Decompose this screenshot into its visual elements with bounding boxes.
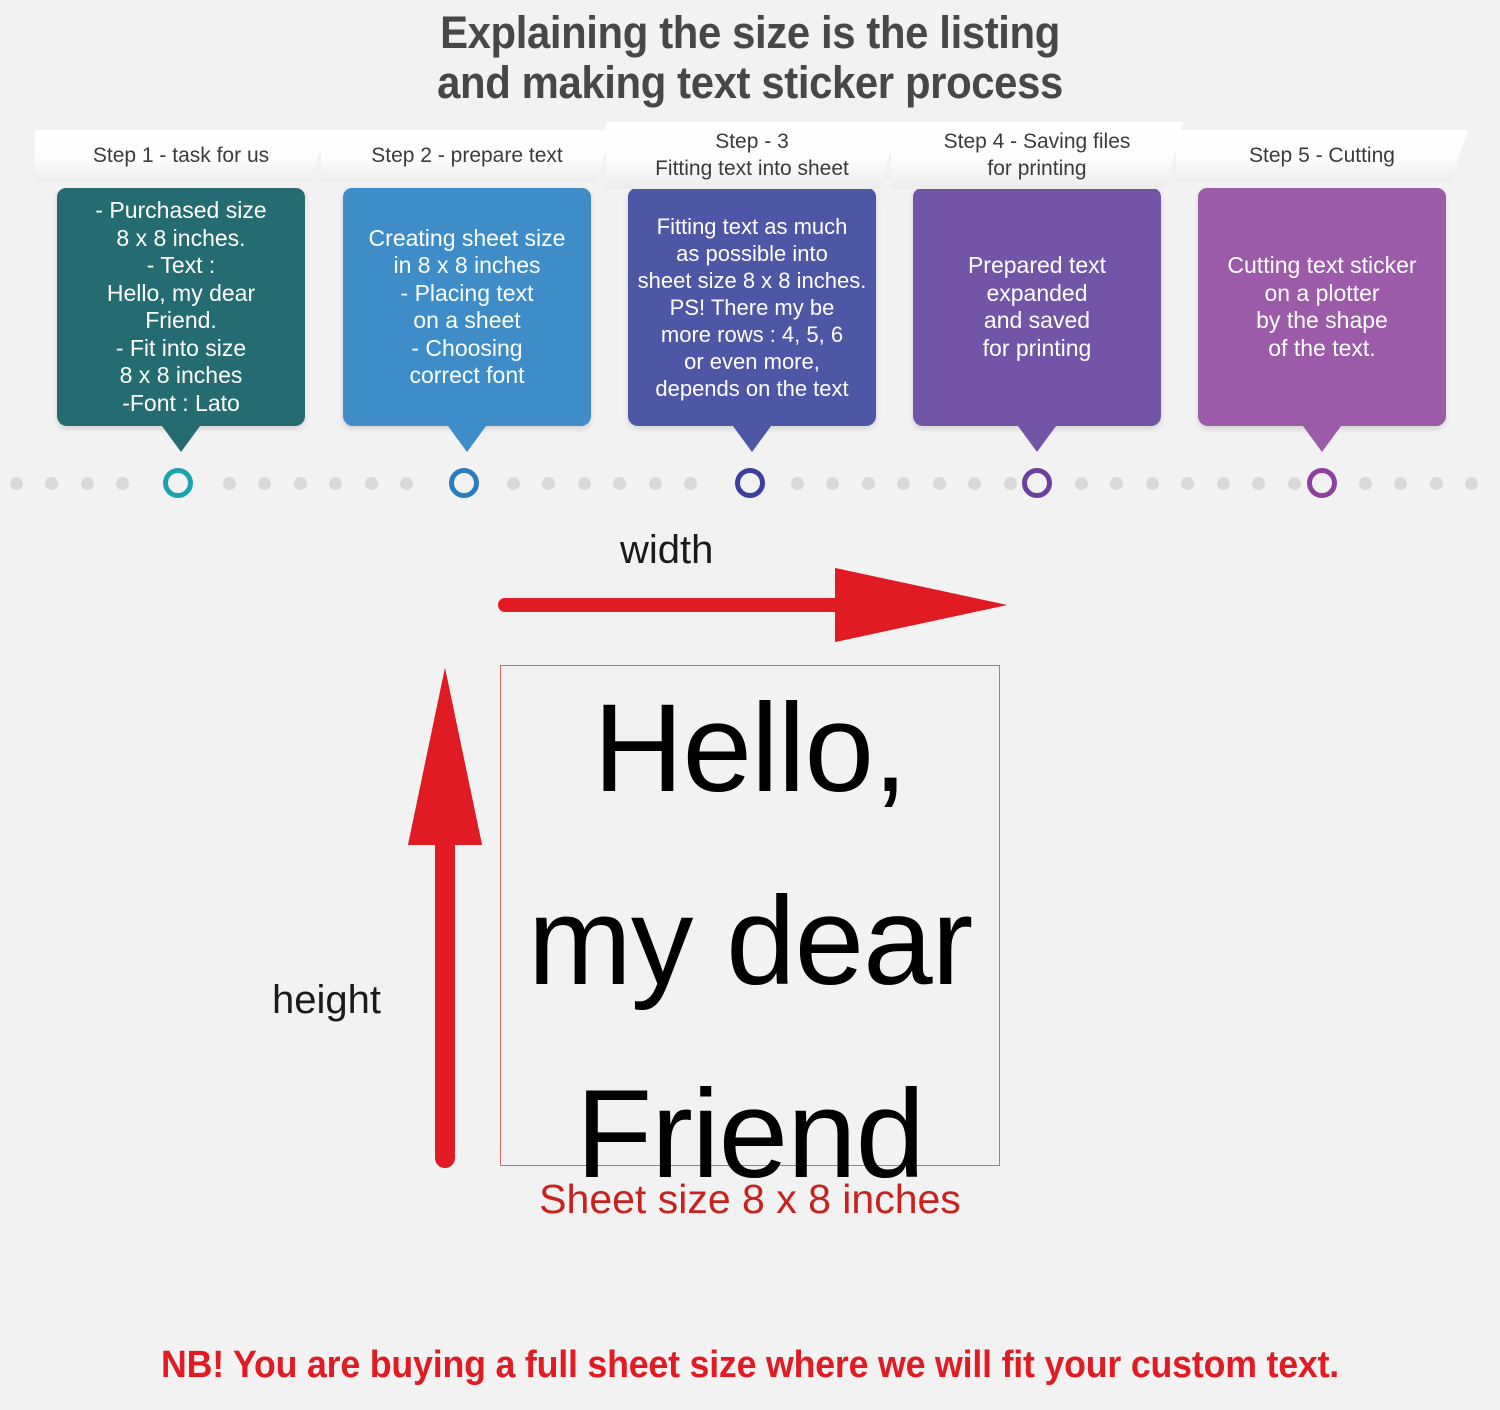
timeline-dot [1110,477,1123,490]
step-5-body-line-3: by the shape [1227,307,1416,335]
page-title: Explaining the size is the listing and m… [53,8,1448,108]
step-2-body-line-3: - Placing text [369,280,566,308]
timeline-dot [613,477,626,490]
step-3-pointer [730,422,774,452]
step-4-body-line-2: expanded [968,280,1106,308]
step-2-body-line-5: - Choosing [369,335,566,363]
sheet-text-line-2: my dear [480,845,1020,1038]
step-5-header-ribbon: Step 5 - Cutting [1176,130,1468,182]
step-3-body-line-6: or even more, [638,348,867,375]
step-3-header-ribbon: Step - 3 Fitting text into sheet [606,122,898,189]
timeline-dot [329,477,342,490]
timeline-dot [968,477,981,490]
sheet-text-line-1: Hello, [480,652,1020,845]
timeline-dot [933,477,946,490]
step-card-5[interactable]: Step 5 - Cutting Cutting text sticker on… [1198,130,1446,460]
step-5-pointer [1300,422,1344,452]
sheet-preview-text: Hello, my dear Friend [480,652,1020,1231]
timeline-dot [862,477,875,490]
timeline-dot [649,477,662,490]
timeline-dot [1430,477,1443,490]
timeline-dot [1252,477,1265,490]
timeline-marker-step-3[interactable] [735,468,765,498]
timeline-dot [1004,477,1017,490]
step-1-body-line-5: Friend. [95,307,266,335]
timeline-dot [1217,477,1230,490]
timeline-marker-step-1[interactable] [163,468,193,498]
step-3-body-line-1: Fitting text as much [638,213,867,240]
timeline-dot [294,477,307,490]
height-label: height [272,978,381,1023]
step-3-body-line-7: depends on the text [638,375,867,402]
step-1-body-line-1: - Purchased size [95,197,266,225]
timeline-dot [1146,477,1159,490]
timeline-dot [45,477,58,490]
timeline-dot [542,477,555,490]
step-2-pointer [445,422,489,452]
step-4-body-line-4: for printing [968,335,1106,363]
timeline-dot [507,477,520,490]
step-card-2[interactable]: Step 2 - prepare text Creating sheet siz… [343,130,591,460]
step-1-body: - Purchased size 8 x 8 inches. - Text : … [57,188,305,426]
timeline-dot [1465,477,1478,490]
step-3-body-line-2: as possible into [638,240,867,267]
timeline-dot [116,477,129,490]
step-2-header-line-1: Step 2 - prepare text [371,144,562,167]
timeline-dot [365,477,378,490]
step-1-body-line-7: 8 x 8 inches [95,362,266,390]
timeline-dot [1181,477,1194,490]
step-card-4[interactable]: Step 4 - Saving files for printing Prepa… [913,130,1161,460]
step-5-body-line-4: of the text. [1227,335,1416,363]
step-4-header-line-2: for printing [944,155,1131,182]
step-4-header-line-1: Step 4 - Saving files [944,128,1131,155]
step-2-header-ribbon: Step 2 - prepare text [321,130,613,182]
step-card-3[interactable]: Step - 3 Fitting text into sheet Fitting… [628,130,876,460]
step-1-header-ribbon: Step 1 - task for us [35,130,327,182]
step-5-header-line-1: Step 5 - Cutting [1249,144,1395,167]
step-2-body-line-4: on a sheet [369,307,566,335]
step-card-1[interactable]: Step 1 - task for us - Purchased size 8 … [57,130,305,460]
step-4-body: Prepared text expanded and saved for pri… [913,188,1161,426]
timeline-dot [1288,477,1301,490]
footer-note: NB! You are buying a full sheet size whe… [45,1344,1455,1387]
page-title-line-1: Explaining the size is the listing [53,8,1448,58]
timeline-dot [897,477,910,490]
step-1-header-line-1: Step 1 - task for us [93,144,269,167]
step-2-body-line-6: correct font [369,362,566,390]
sheet-size-caption: Sheet size 8 x 8 inches [400,1176,1100,1223]
step-1-body-line-4: Hello, my dear [95,280,266,308]
step-2-body: Creating sheet size in 8 x 8 inches - Pl… [343,188,591,426]
step-3-body-line-4: PS! There my be [638,294,867,321]
step-1-body-line-2: 8 x 8 inches. [95,225,266,253]
step-5-body-line-2: on a plotter [1227,280,1416,308]
step-1-body-line-6: - Fit into size [95,335,266,363]
step-3-body: Fitting text as much as possible into sh… [628,188,876,426]
step-5-body: Cutting text sticker on a plotter by the… [1198,188,1446,426]
timeline-dot [1075,477,1088,490]
step-1-body-line-8: -Font : Lato [95,390,266,418]
step-3-body-line-3: sheet size 8 x 8 inches. [638,267,867,294]
timeline-dot [826,477,839,490]
step-4-header-ribbon: Step 4 - Saving files for printing [891,122,1183,189]
timeline-dot [223,477,236,490]
timeline-marker-step-4[interactable] [1022,468,1052,498]
timeline-marker-step-2[interactable] [449,468,479,498]
step-3-header-line-2: Fitting text into sheet [655,155,849,182]
timeline-dot [81,477,94,490]
step-3-body-line-5: more rows : 4, 5, 6 [638,321,867,348]
step-1-body-line-3: - Text : [95,252,266,280]
step-4-pointer [1015,422,1059,452]
step-2-body-line-2: in 8 x 8 inches [369,252,566,280]
progress-timeline [0,468,1500,508]
timeline-dot [258,477,271,490]
timeline-dot [400,477,413,490]
timeline-marker-step-5[interactable] [1307,468,1337,498]
step-5-body-line-1: Cutting text sticker [1227,252,1416,280]
timeline-dot [1394,477,1407,490]
step-4-body-line-1: Prepared text [968,252,1106,280]
timeline-dot [578,477,591,490]
timeline-dot [684,477,697,490]
steps-strip: Step 1 - task for us - Purchased size 8 … [0,130,1500,460]
timeline-dot [10,477,23,490]
page-title-line-2: and making text sticker process [53,58,1448,108]
step-4-body-line-3: and saved [968,307,1106,335]
width-arrow-icon [495,560,1015,650]
step-1-pointer [159,422,203,452]
step-2-body-line-1: Creating sheet size [369,225,566,253]
timeline-dot [1359,477,1372,490]
timeline-dot [791,477,804,490]
step-3-header-line-1: Step - 3 [655,128,849,155]
